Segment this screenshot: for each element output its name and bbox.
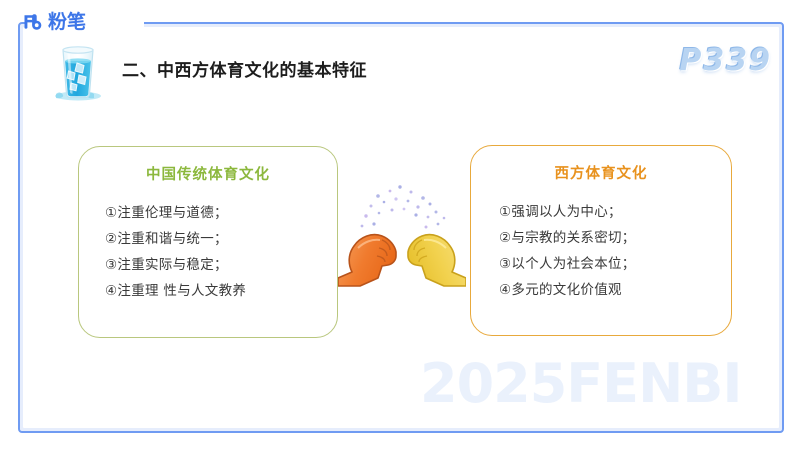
card-title-right: 西方体育文化 (471, 162, 731, 183)
list-item: ①注重伦理与道德； (105, 200, 337, 226)
fist-bump-illustration (338, 182, 466, 302)
list-item: ④多元的文化价值观 (499, 277, 731, 303)
logo-text: 粉笔 (48, 12, 86, 32)
page-number: P339 (679, 43, 772, 78)
list-item: ④注重理 性与人文教养 (105, 278, 337, 304)
fb-mark-icon (22, 12, 44, 32)
glass-of-ice-water-icon (50, 40, 106, 102)
watermark-text: 2025FENBI (420, 352, 742, 415)
card-western-sports-culture: 西方体育文化 ①强调以人为中心； ②与宗教的关系密切； ③以个人为社会本位； ④… (470, 145, 732, 336)
list-item: ③注重实际与稳定； (105, 252, 337, 278)
card-chinese-traditional-sports-culture: 中国传统体育文化 ①注重伦理与道德； ②注重和谐与统一； ③注重实际与稳定； ④… (78, 146, 338, 338)
slide-canvas: 粉笔 (0, 0, 800, 450)
card-list-left: ①注重伦理与道德； ②注重和谐与统一； ③注重实际与稳定； ④注重理 性与人文教… (79, 200, 337, 304)
page-title: 二、中西方体育文化的基本特征 (122, 56, 367, 81)
list-item: ②注重和谐与统一； (105, 226, 337, 252)
fenbi-logo: 粉笔 (22, 10, 86, 34)
list-item: ③以个人为社会本位； (499, 251, 731, 277)
list-item: ①强调以人为中心； (499, 199, 731, 225)
list-item: ②与宗教的关系密切； (499, 225, 731, 251)
card-title-left: 中国传统体育文化 (79, 163, 337, 184)
card-list-right: ①强调以人为中心； ②与宗教的关系密切； ③以个人为社会本位； ④多元的文化价值… (471, 199, 731, 303)
